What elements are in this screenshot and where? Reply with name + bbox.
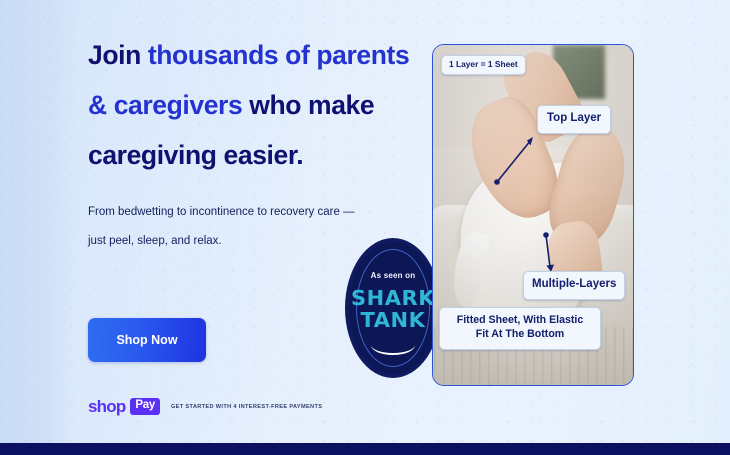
subcopy-line-1: From bedwetting to incontinence to recov… <box>88 198 363 227</box>
shop-pay-note: GET STARTED WITH 4 INTEREST-FREE PAYMENT… <box>171 404 322 410</box>
bottom-bar <box>0 443 730 455</box>
headline-line-2-part-a: & caregivers <box>88 90 249 120</box>
headline-line-1-part-b: thousands of parents <box>148 40 409 70</box>
badge-eyebrow-text: As seen on <box>345 271 441 280</box>
page-title: Join thousands of parents & caregivers w… <box>88 30 378 180</box>
background-left-band <box>0 0 76 443</box>
product-image-panel[interactable]: 1 Layer = 1 Sheet Top Layer Multiple-Lay… <box>432 44 634 386</box>
hero-copy-column: Join thousands of parents & caregivers w… <box>88 30 378 180</box>
headline-line-1-part-a: Join <box>88 40 148 70</box>
callout-layer-sheet: 1 Layer = 1 Sheet <box>441 55 526 75</box>
callout-fitted-sheet: Fitted Sheet, With Elastic Fit At The Bo… <box>439 307 601 350</box>
badge-word-tank: TANK <box>343 310 444 330</box>
headline-line-2: & caregivers who make <box>88 80 378 130</box>
callout-fitted-sheet-line-1: Fitted Sheet, With Elastic <box>446 313 594 327</box>
callout-top-layer: Top Layer <box>537 105 611 134</box>
shop-pay-badge: Pay <box>130 398 160 415</box>
callout-multiple-layers: Multiple-Layers <box>523 271 625 300</box>
callout-fitted-sheet-line-2: Fit At The Bottom <box>446 327 594 341</box>
shop-pay-promo[interactable]: shop Pay GET STARTED WITH 4 INTEREST-FRE… <box>88 398 322 415</box>
badge-swoosh-icon <box>371 335 415 355</box>
headline-line-3: caregiving easier. <box>88 130 378 180</box>
badge-word-shark: SHARK <box>343 288 444 308</box>
as-seen-on-shark-tank-badge: As seen on SHARK TANK <box>345 238 441 378</box>
hero-subcopy: From bedwetting to incontinence to recov… <box>88 198 363 256</box>
headline-line-1: Join thousands of parents <box>88 30 378 80</box>
shop-now-button[interactable]: Shop Now <box>88 318 206 362</box>
shop-pay-wordmark: shop <box>88 398 125 415</box>
subcopy-line-2: just peel, sleep, and relax. <box>88 227 363 256</box>
headline-line-2-part-b: who make <box>249 90 374 120</box>
hero-banner: Join thousands of parents & caregivers w… <box>0 0 730 455</box>
